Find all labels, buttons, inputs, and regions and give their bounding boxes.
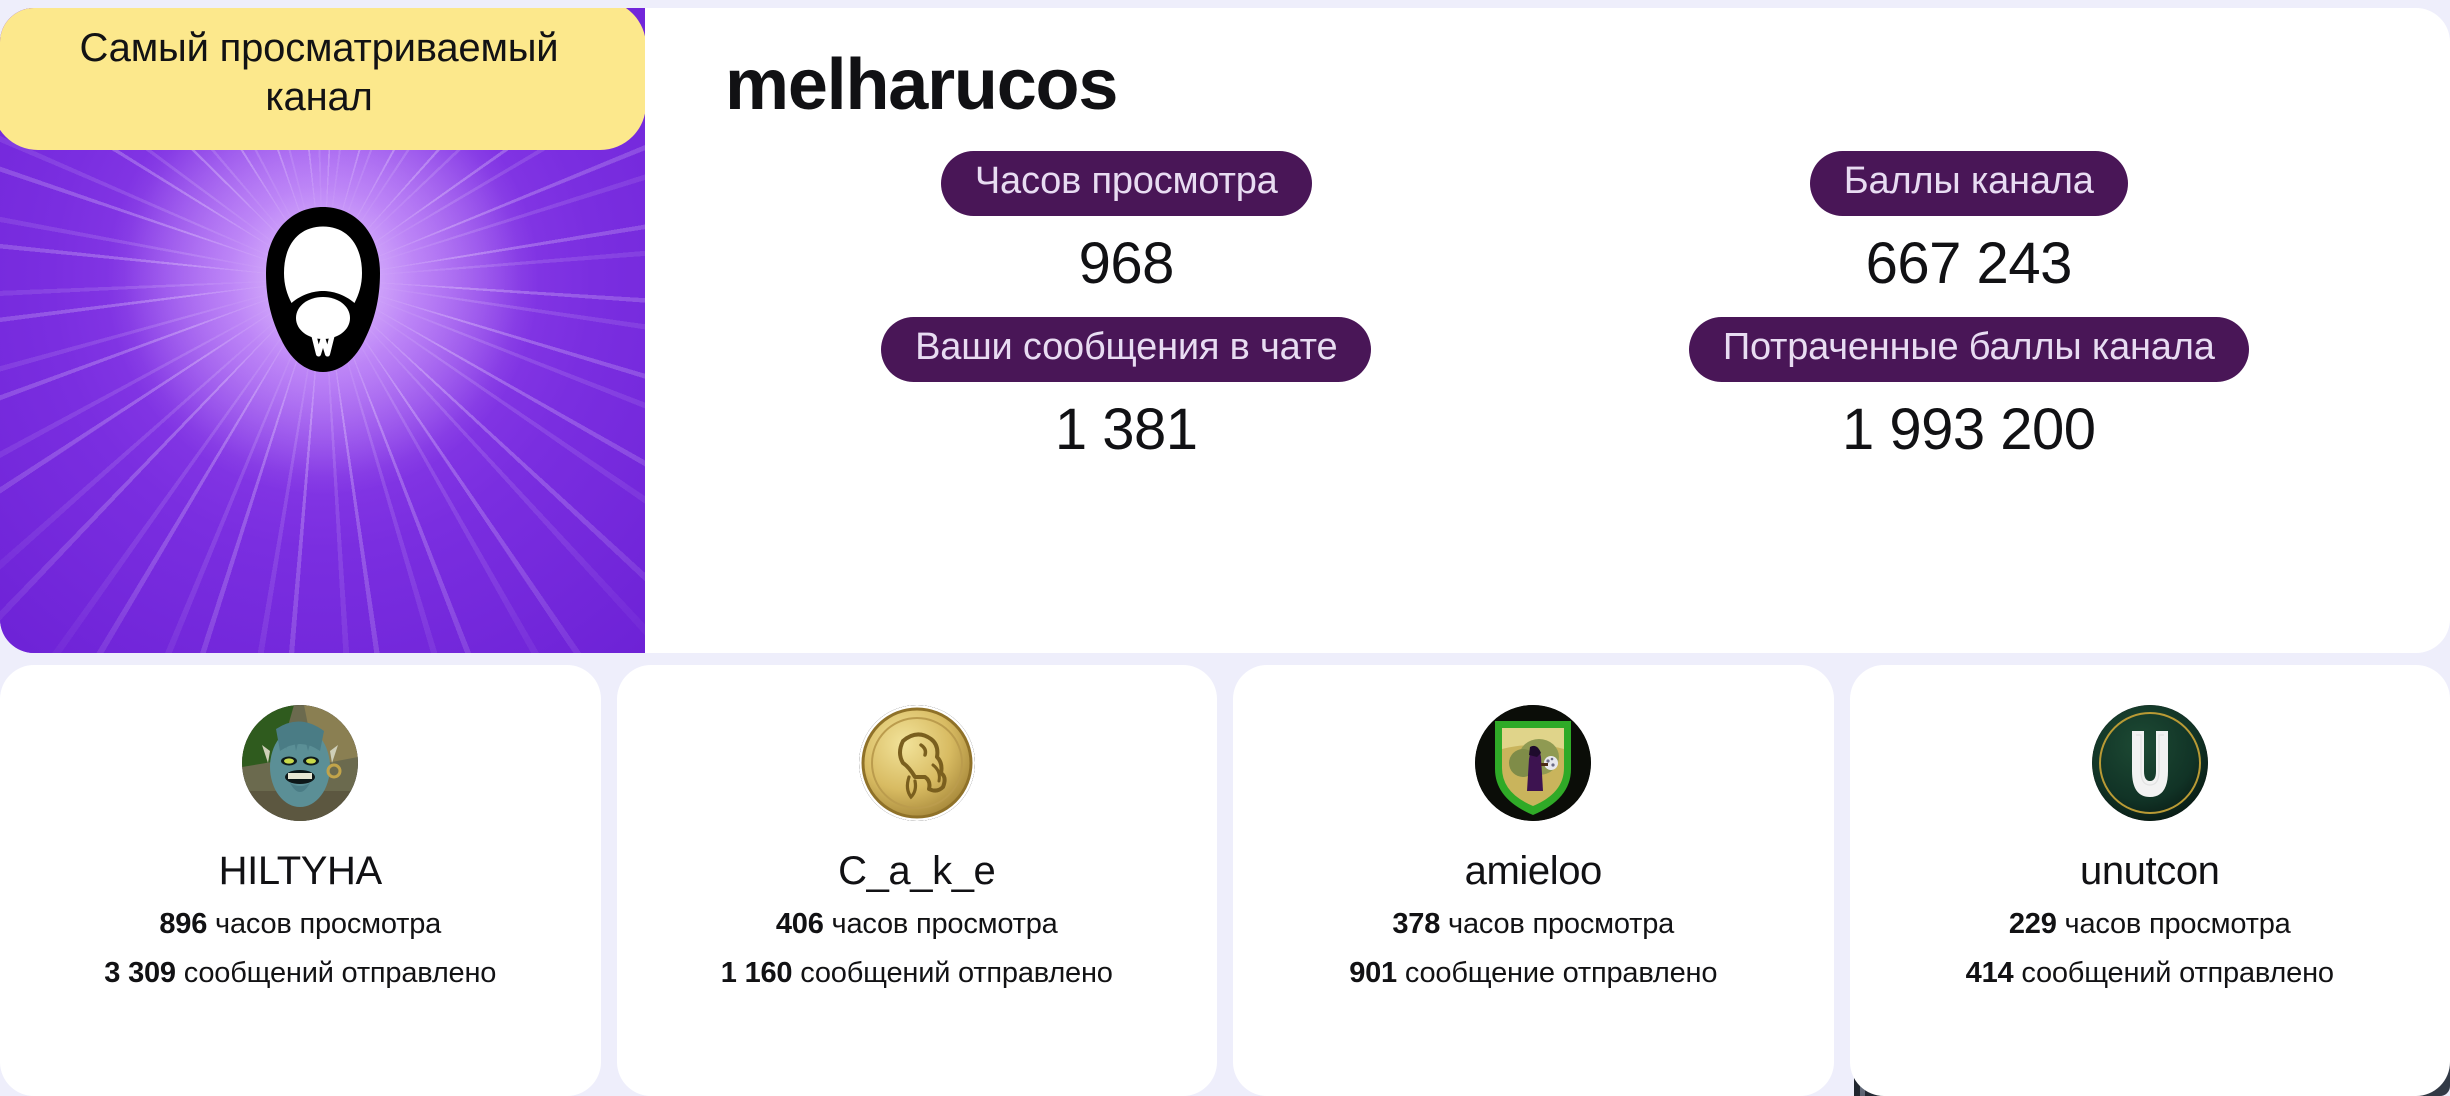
- stat-value-watch-hours: 968: [1079, 234, 1174, 295]
- user-watch-hours-label: часов просмотра: [215, 908, 441, 940]
- user-card[interactable]: HILTYHA 896 часов просмотра 3 309 сообще…: [0, 665, 601, 1096]
- user-messages-label: сообщений отправлено: [184, 957, 497, 989]
- channel-stats-column-right: Баллы канала 667 243 Потраченные баллы к…: [1548, 151, 2391, 483]
- user-name: C_a_k_e: [838, 849, 995, 893]
- channel-stats-column-left: Часов просмотра 968 Ваши сообщения в чат…: [705, 151, 1548, 483]
- user-watch-hours: 896 часов просмотра: [159, 907, 441, 942]
- user-messages: 3 309 сообщений отправлено: [104, 956, 496, 991]
- stat-label-spent-channel-points: Потраченные баллы канала: [1689, 317, 2249, 382]
- green-shield-mage-avatar-icon: [1475, 705, 1591, 821]
- user-watch-hours-value: 229: [2009, 908, 2057, 940]
- user-card[interactable]: unutcon 229 часов просмотра 414 сообщени…: [1850, 665, 2450, 1096]
- user-card[interactable]: amieloo 378 часов просмотра 901 сообщени…: [1233, 665, 1834, 1096]
- stat-value-channel-points: 667 243: [1866, 234, 2072, 295]
- channel-name: melharucos: [725, 46, 2390, 125]
- user-messages-label: сообщение отправлено: [1405, 957, 1717, 989]
- most-watched-channel-badge: Самый просматриваемый канал: [0, 8, 645, 150]
- bearded-face-logo-icon: [248, 204, 398, 354]
- channel-stats-panel: melharucos Часов просмотра 968 Ваши сооб…: [645, 8, 2450, 653]
- gold-lion-coin-avatar-icon: [859, 705, 975, 821]
- user-messages: 901 сообщение отправлено: [1349, 956, 1717, 991]
- channel-stats-grid: Часов просмотра 968 Ваши сообщения в чат…: [705, 151, 2390, 483]
- user-name: HILTYHA: [219, 849, 382, 893]
- top-viewers-row: HILTYHA 896 часов просмотра 3 309 сообще…: [0, 665, 2450, 1096]
- stat-label-channel-points: Баллы канала: [1810, 151, 2128, 216]
- troll-face-avatar-icon: [242, 705, 358, 821]
- stat-value-your-chat-messages: 1 381: [1055, 400, 1198, 461]
- stat-label-your-chat-messages: Ваши сообщения в чате: [881, 317, 1371, 382]
- channel-summary-row: Самый просматриваемый канал melharucos Ч…: [0, 8, 2450, 653]
- user-messages: 414 сообщений отправлено: [1966, 956, 2334, 991]
- stat-label-watch-hours: Часов просмотра: [941, 151, 1312, 216]
- channel-avatar-panel: Самый просматриваемый канал: [0, 8, 645, 653]
- user-name: amieloo: [1465, 849, 1602, 893]
- user-messages-value: 901: [1349, 957, 1397, 989]
- user-watch-hours-label: часов просмотра: [1448, 908, 1674, 940]
- stat-value-spent-channel-points: 1 993 200: [1842, 400, 2096, 461]
- user-watch-hours-label: часов просмотра: [832, 908, 1058, 940]
- user-watch-hours-label: часов просмотра: [2065, 908, 2291, 940]
- user-messages-value: 414: [1966, 957, 2014, 989]
- user-watch-hours-value: 378: [1392, 908, 1440, 940]
- user-messages-value: 3 309: [104, 957, 176, 989]
- user-watch-hours: 229 часов просмотра: [2009, 907, 2291, 942]
- user-messages-label: сообщений отправлено: [2021, 957, 2334, 989]
- channel-stats-page: Самый просматриваемый канал melharucos Ч…: [0, 0, 2450, 1096]
- user-watch-hours: 406 часов просмотра: [776, 907, 1058, 942]
- user-card[interactable]: C_a_k_e 406 часов просмотра 1 160 сообще…: [617, 665, 1218, 1096]
- user-watch-hours: 378 часов просмотра: [1392, 907, 1674, 942]
- user-watch-hours-value: 406: [776, 908, 824, 940]
- user-messages-label: сообщений отправлено: [800, 957, 1113, 989]
- user-messages-value: 1 160: [721, 957, 793, 989]
- user-watch-hours-value: 896: [159, 908, 207, 940]
- user-messages: 1 160 сообщений отправлено: [721, 956, 1113, 991]
- green-u-emblem-avatar-icon: [2092, 705, 2208, 821]
- user-name: unutcon: [2080, 849, 2220, 893]
